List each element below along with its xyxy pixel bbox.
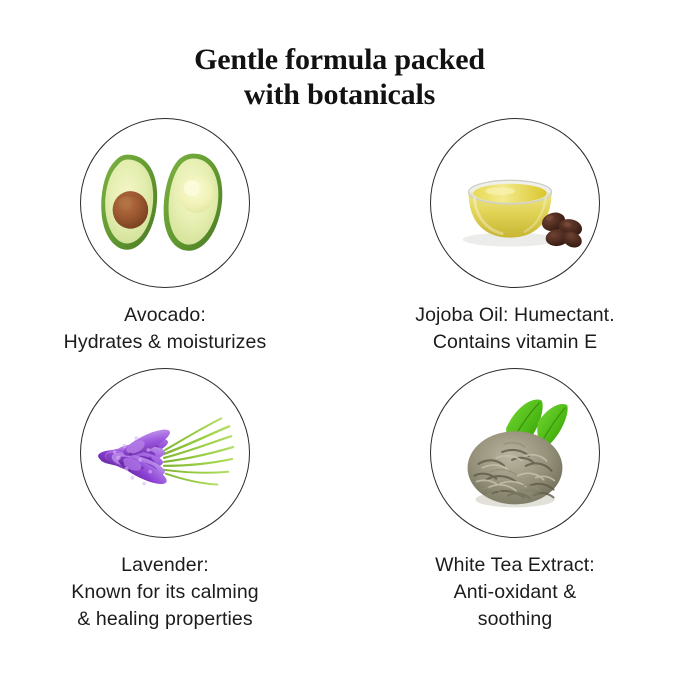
avocado-half-right	[164, 154, 223, 251]
ingredient-lavender: Lavender: Known for its calming & healin…	[0, 368, 330, 633]
ingredient-image-circle-lavender	[80, 368, 250, 538]
caption-line-2: Anti-oxidant &	[350, 579, 679, 606]
dried-tea-leaves-pile	[468, 431, 563, 507]
caption-line-2: Contains vitamin E	[350, 329, 679, 356]
caption-line-1: White Tea Extract:	[350, 552, 679, 579]
ingredient-image-circle-avocado	[80, 118, 250, 288]
lavender-bundle-photo	[81, 369, 249, 537]
ingredient-image-circle-white-tea	[430, 368, 600, 538]
ingredient-white-tea: White Tea Extract: Anti-oxidant & soothi…	[350, 368, 679, 633]
ingredient-image-circle-jojoba-oil	[430, 118, 600, 288]
caption-line-1: Avocado:	[0, 302, 330, 329]
caption-line-2: Hydrates & moisturizes	[0, 329, 330, 356]
page-title-line-2: with botanicals	[0, 77, 679, 112]
glass-bowl	[469, 180, 552, 237]
caption-line-1: Lavender:	[0, 552, 330, 579]
ingredient-caption-avocado: Avocado: Hydrates & moisturizes	[0, 302, 330, 356]
page-title: Gentle formula packed with botanicals	[0, 42, 679, 112]
avocado-halves-photo	[81, 119, 249, 287]
ingredient-caption-white-tea: White Tea Extract: Anti-oxidant & soothi…	[350, 552, 679, 633]
ingredient-caption-jojoba-oil: Jojoba Oil: Humectant. Contains vitamin …	[350, 302, 679, 356]
caption-line-3: & healing properties	[0, 606, 330, 633]
white-tea-leaves-photo	[431, 369, 599, 537]
caption-line-2: Known for its calming	[0, 579, 330, 606]
avocado-half-left	[101, 155, 157, 250]
lavender-stems	[164, 418, 233, 484]
jojoba-oil-bowl-photo	[431, 119, 599, 287]
lavender-flowers	[97, 425, 173, 489]
ingredient-jojoba-oil: Jojoba Oil: Humectant. Contains vitamin …	[350, 118, 679, 356]
caption-line-1: Jojoba Oil: Humectant.	[350, 302, 679, 329]
ingredient-infographic: Gentle formula packed with botanicals	[0, 0, 679, 679]
page-title-line-1: Gentle formula packed	[0, 42, 679, 77]
ingredient-caption-lavender: Lavender: Known for its calming & healin…	[0, 552, 330, 633]
jojoba-seeds	[540, 210, 585, 251]
ingredient-avocado: Avocado: Hydrates & moisturizes	[0, 118, 330, 356]
caption-line-3: soothing	[350, 606, 679, 633]
